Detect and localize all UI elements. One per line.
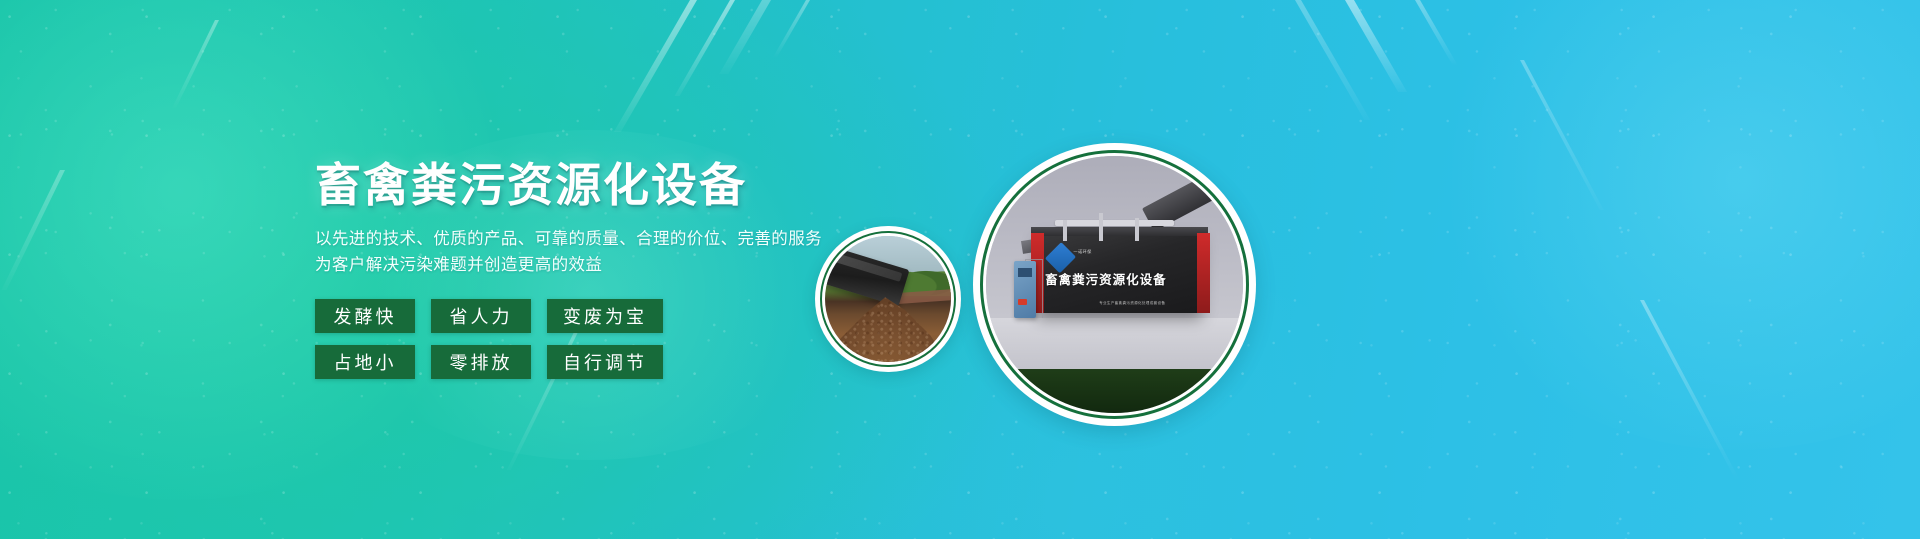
light-streak-5 (1295, 0, 1370, 120)
compost-scene (825, 236, 951, 362)
equipment-photo-circle: 一诺环保 畜禽粪污资源化设备 专业生产畜禽粪污资源化处理成套设备 (973, 143, 1256, 426)
equipment-post-1 (1063, 220, 1067, 241)
compost-photo-media (825, 236, 951, 362)
compost-photo-circle (815, 226, 961, 372)
tag-self-adjusting[interactable]: 自行调节 (547, 345, 663, 379)
compost-photo-ring (820, 231, 956, 367)
page-title: 畜禽粪污资源化设备 (315, 160, 935, 212)
compost-roof (898, 289, 951, 304)
equipment-photo-media: 一诺环保 畜禽粪污资源化设备 专业生产畜禽粪污资源化处理成套设备 (986, 156, 1243, 413)
equipment-name-label: 畜禽粪污资源化设备 (1045, 269, 1194, 288)
glow-top-right (1420, 0, 1920, 450)
control-panel-button (1018, 299, 1028, 305)
equipment-post-2 (1099, 213, 1103, 241)
light-streak-3 (719, 0, 771, 74)
tag-zero-emission[interactable]: 零排放 (431, 345, 531, 379)
equipment-scene: 一诺环保 畜禽粪污资源化设备 专业生产畜禽粪污资源化处理成套设备 (986, 156, 1243, 413)
tag-small-footprint[interactable]: 占地小 (315, 345, 415, 379)
light-streak-1 (614, 0, 697, 132)
light-streak-8 (1520, 60, 1604, 210)
equipment-sub-label: 专业生产畜禽粪污资源化处理成套设备 (1099, 301, 1202, 306)
equipment-rail (1055, 220, 1173, 226)
equipment-floor (986, 318, 1243, 375)
light-streak-7 (1415, 0, 1458, 66)
equipment-photo-ring: 一诺环保 畜禽粪污资源化设备 专业生产畜禽粪污资源化处理成套设备 (980, 150, 1249, 419)
light-streak-4 (773, 0, 810, 58)
light-streak-10 (1, 170, 65, 290)
banner-root: 畜禽粪污资源化设备 以先进的技术、优质的产品、可靠的质量、合理的价位、完善的服务… (0, 0, 1920, 539)
light-streak-2 (675, 0, 735, 96)
equipment-control-panel (1014, 261, 1036, 318)
tag-save-labor[interactable]: 省人力 (431, 299, 531, 333)
light-streak-11 (171, 20, 219, 110)
tag-fermentation-fast[interactable]: 发酵快 (315, 299, 415, 333)
equipment-grass (986, 369, 1243, 413)
light-streak-9 (1640, 300, 1740, 480)
equipment-post-3 (1135, 218, 1139, 241)
equipment-brand-text: 一诺环保 (1073, 249, 1091, 255)
background-texture (0, 0, 1920, 539)
control-panel-screen (1018, 268, 1032, 277)
light-streak-6 (1345, 0, 1407, 92)
tag-waste-to-treasure[interactable]: 变废为宝 (547, 299, 663, 333)
